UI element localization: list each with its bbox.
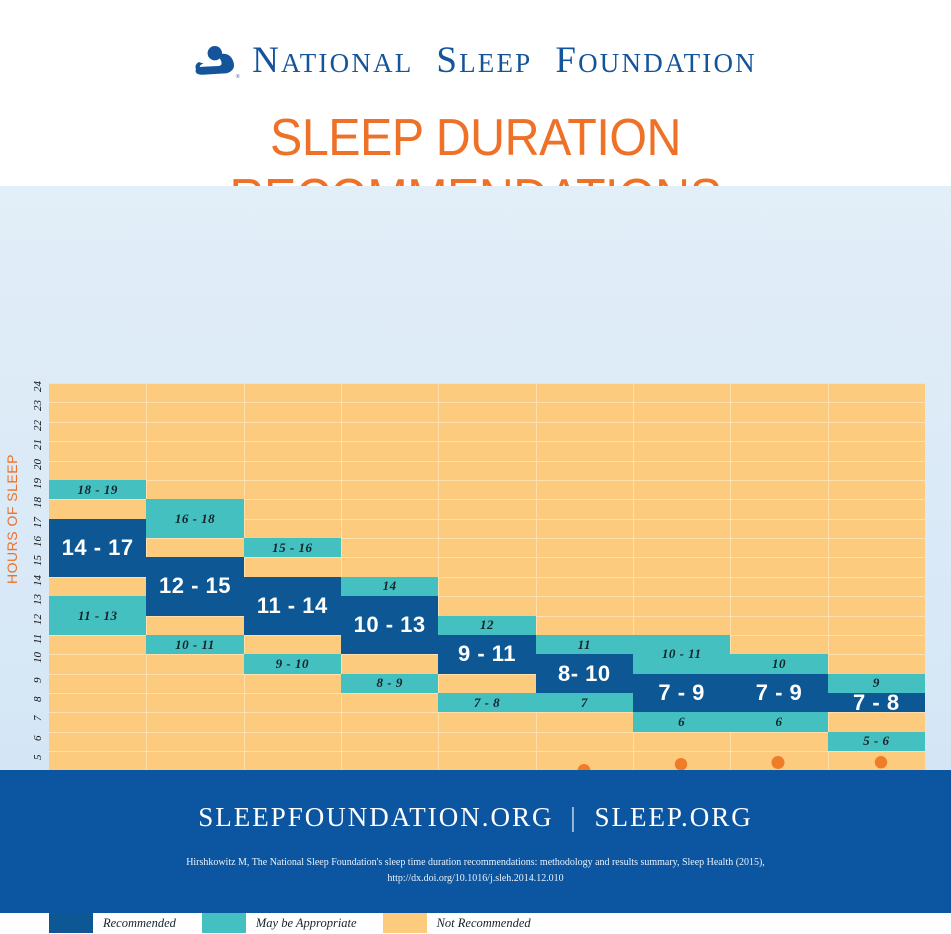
y-tick-label: 10 bbox=[32, 652, 44, 663]
chart-gridline bbox=[49, 732, 925, 733]
legend-label: Recommended bbox=[103, 916, 176, 931]
band-value-label: 7 bbox=[581, 695, 588, 711]
band-recommended: 11 - 14 bbox=[244, 577, 341, 635]
band-value-label: 9 - 11 bbox=[458, 641, 516, 667]
chart-gridline bbox=[49, 402, 925, 403]
band-may-be-appropriate-lower: 7 bbox=[536, 693, 633, 712]
y-tick-label: 12 bbox=[32, 614, 44, 625]
band-recommended: 7 - 8 bbox=[828, 693, 925, 712]
band-value-label: 6 bbox=[678, 714, 685, 730]
url-separator: | bbox=[562, 802, 585, 832]
band-value-label: 10 bbox=[772, 656, 786, 672]
y-tick-label: 7 bbox=[32, 716, 44, 722]
band-may-be-appropriate-upper: 12 bbox=[438, 616, 535, 635]
footer-band: SLEEPFOUNDATION.ORG | SLEEP.ORG Hirshkow… bbox=[0, 770, 951, 913]
band-recommended: 12 - 15 bbox=[146, 557, 243, 615]
band-may-be-appropriate-upper: 16 - 18 bbox=[146, 499, 243, 538]
band-value-label: 7 - 9 bbox=[756, 680, 803, 706]
band-value-label: 10 - 11 bbox=[662, 646, 702, 662]
chart-gridline bbox=[49, 383, 925, 384]
footer-urls: SLEEPFOUNDATION.ORG | SLEEP.ORG bbox=[0, 802, 951, 833]
y-tick-label: 16 bbox=[32, 536, 44, 547]
band-may-be-appropriate-upper: 10 - 11 bbox=[633, 635, 730, 674]
band-may-be-appropriate-lower: 8 - 9 bbox=[341, 674, 438, 693]
svg-text:®: ® bbox=[236, 73, 241, 80]
chart-gridline bbox=[49, 480, 925, 481]
legend-label: May be Appropriate bbox=[256, 916, 357, 931]
band-may-be-appropriate-upper: 15 - 16 bbox=[244, 538, 341, 557]
band-value-label: 6 bbox=[775, 714, 782, 730]
band-recommended: 7 - 9 bbox=[730, 674, 827, 713]
y-tick-label: 21 bbox=[32, 439, 44, 450]
sleepfoundation-url[interactable]: SLEEPFOUNDATION.ORG bbox=[198, 802, 553, 832]
band-recommended: 9 - 11 bbox=[438, 635, 535, 674]
band-value-label: 11 - 14 bbox=[257, 593, 328, 619]
chart-panel: HOURS OF SLEEP 0123456789101112131415161… bbox=[0, 186, 951, 770]
band-value-label: 14 - 17 bbox=[62, 535, 134, 561]
band-value-label: 9 - 10 bbox=[276, 656, 309, 672]
brand-header: ® NATIONAL SLEEP FOUNDATION bbox=[0, 30, 951, 90]
sleeping-person-logo-icon: ® bbox=[194, 42, 242, 82]
legend-swatch bbox=[49, 913, 93, 933]
band-may-be-appropriate-lower: 10 - 11 bbox=[146, 635, 243, 654]
legend-swatch bbox=[383, 913, 427, 933]
y-tick-label: 17 bbox=[32, 517, 44, 528]
band-value-label: 12 - 15 bbox=[159, 573, 231, 599]
y-tick-label: 22 bbox=[32, 420, 44, 431]
chart-gridline bbox=[49, 461, 925, 462]
band-may-be-appropriate-upper: 14 bbox=[341, 577, 438, 596]
band-value-label: 8- 10 bbox=[558, 661, 611, 687]
chart-gridline bbox=[49, 751, 925, 752]
y-tick-label: 11 bbox=[32, 634, 44, 644]
y-tick-label: 8 bbox=[32, 697, 44, 703]
band-recommended: 7 - 9 bbox=[633, 674, 730, 713]
band-may-be-appropriate-lower: 7 - 8 bbox=[438, 693, 535, 712]
band-may-be-appropriate-upper: 11 bbox=[536, 635, 633, 654]
org-name: NATIONAL SLEEP FOUNDATION bbox=[252, 39, 757, 82]
band-recommended: 10 - 13 bbox=[341, 596, 438, 654]
y-tick-label: 15 bbox=[32, 555, 44, 566]
chart-legend: RecommendedMay be AppropriateNot Recomme… bbox=[49, 912, 557, 934]
band-value-label: 12 bbox=[480, 617, 494, 633]
chart-gridline bbox=[49, 422, 925, 423]
citation: Hirshkowitz M, The National Sleep Founda… bbox=[24, 855, 927, 887]
legend-item-may-be-appropriate[interactable]: May be Appropriate bbox=[202, 913, 357, 933]
band-may-be-appropriate-lower: 9 - 10 bbox=[244, 654, 341, 673]
band-value-label: 10 - 13 bbox=[354, 612, 426, 638]
y-tick-label: 20 bbox=[32, 459, 44, 470]
legend-swatch bbox=[202, 913, 246, 933]
y-tick-label: 5 bbox=[32, 755, 44, 761]
y-axis-title: HOURS OF SLEEP bbox=[4, 454, 20, 584]
y-tick-label: 23 bbox=[32, 400, 44, 411]
band-may-be-appropriate-lower: 11 - 13 bbox=[49, 596, 146, 635]
y-tick-label: 18 bbox=[32, 497, 44, 508]
band-may-be-appropriate-lower: 6 bbox=[633, 712, 730, 731]
band-value-label: 16 - 18 bbox=[175, 511, 215, 527]
y-tick-label: 14 bbox=[32, 575, 44, 586]
band-value-label: 7 - 9 bbox=[658, 680, 705, 706]
y-tick-label: 19 bbox=[32, 478, 44, 489]
band-value-label: 10 - 11 bbox=[175, 637, 215, 653]
band-value-label: 14 bbox=[383, 578, 397, 594]
legend-item-not-recommended[interactable]: Not Recommended bbox=[383, 913, 531, 933]
band-value-label: 7 - 8 bbox=[853, 690, 900, 716]
band-may-be-appropriate-upper: 10 bbox=[730, 654, 827, 673]
band-value-label: 5 - 6 bbox=[863, 733, 889, 749]
citation-line-1: Hirshkowitz M, The National Sleep Founda… bbox=[24, 855, 927, 871]
band-value-label: 18 - 19 bbox=[77, 482, 117, 498]
sleep-org-url[interactable]: SLEEP.ORG bbox=[594, 802, 752, 832]
band-recommended: 8- 10 bbox=[536, 654, 633, 693]
band-value-label: 7 - 8 bbox=[474, 695, 500, 711]
band-may-be-appropriate-upper: 18 - 19 bbox=[49, 480, 146, 499]
legend-label: Not Recommended bbox=[437, 916, 531, 931]
y-tick-label: 9 bbox=[32, 677, 44, 683]
legend-item-recommended[interactable]: Recommended bbox=[49, 913, 176, 933]
band-value-label: 11 bbox=[578, 637, 591, 653]
y-tick-label: 6 bbox=[32, 735, 44, 741]
band-may-be-appropriate-lower: 5 - 6 bbox=[828, 732, 925, 751]
chart-gridline bbox=[49, 538, 925, 539]
band-value-label: 8 - 9 bbox=[376, 675, 402, 691]
citation-line-2[interactable]: http://dx.doi.org/10.1016/j.sleh.2014.12… bbox=[24, 871, 927, 887]
y-tick-label: 24 bbox=[32, 381, 44, 392]
band-value-label: 15 - 16 bbox=[272, 540, 312, 556]
y-tick-label: 13 bbox=[32, 594, 44, 605]
band-value-label: 11 - 13 bbox=[78, 608, 118, 624]
band-recommended: 14 - 17 bbox=[49, 519, 146, 577]
band-may-be-appropriate-lower: 6 bbox=[730, 712, 827, 731]
chart-gridline bbox=[49, 441, 925, 442]
